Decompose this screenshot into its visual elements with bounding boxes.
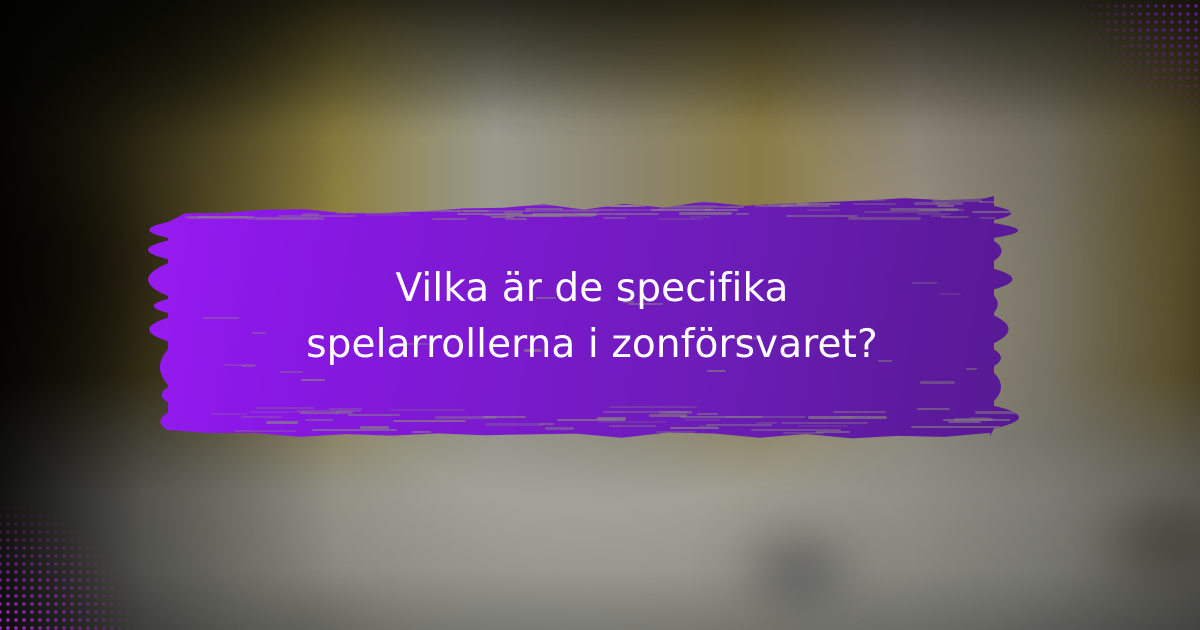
page-title: Vilka är de specifika spelarrollerna i z… — [272, 261, 912, 373]
social-card: Vilka är de specifika spelarrollerna i z… — [0, 0, 1200, 630]
halftone-dots-top-right-icon — [1064, 0, 1200, 144]
halftone-dots-bottom-left-icon — [0, 496, 146, 630]
headline-container: Vilka är de specifika spelarrollerna i z… — [132, 188, 1052, 446]
